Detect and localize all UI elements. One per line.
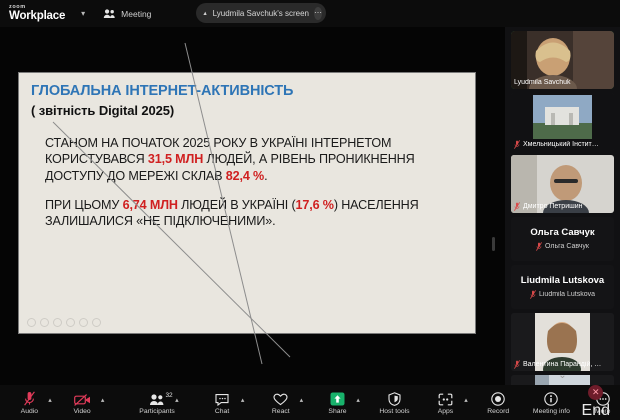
participant-name-bar: Liudmila Lutskova [530, 290, 595, 299]
participants-label: Participants [139, 408, 175, 415]
participant-display-name: Liudmila Lutskova [521, 275, 604, 286]
share-button[interactable]: Share ▴ [320, 391, 355, 415]
react-label: React [272, 408, 290, 415]
participant-name-bar: Lyudmila Savchuk [511, 76, 614, 89]
end-call-icon: ✕ [588, 385, 603, 400]
host-tools-label: Host tools [379, 408, 409, 415]
p2-text-b: ЛЮДЕЙ В УКРАЇНІ ( [178, 198, 296, 212]
brand-workplace-text: Workplace [9, 11, 65, 23]
record-label: Record [487, 408, 509, 415]
chevron-up-icon[interactable]: ▴ [300, 396, 304, 404]
host-tools-button[interactable]: Host tools [375, 391, 414, 415]
shared-screen-stage: ГЛОБАЛЬНА ІНТЕРНЕТ-АКТИВНІСТЬ ( звітніст… [0, 27, 505, 385]
end-meeting-button[interactable]: ✕ End [582, 385, 610, 420]
apps-label: Apps [438, 408, 454, 415]
p2-highlight-2: 17,6 % [296, 198, 334, 212]
pen-tool-icon[interactable] [53, 318, 62, 327]
record-icon [491, 391, 505, 406]
participant-tile[interactable]: Валентина Парандій, … [511, 313, 614, 371]
participant-name: Хмельницький Інстит… [523, 141, 599, 148]
meeting-info-label: Meeting info [533, 408, 570, 415]
participants-button[interactable]: 32 Participants ▴ [137, 391, 176, 415]
audio-button[interactable]: Audio ▴ [12, 391, 47, 415]
screen-share-label: Lyudmila Savchuk's screen [213, 9, 309, 18]
participants-icon [103, 8, 116, 19]
meeting-tab-label: Meeting [121, 9, 151, 19]
zoom-meeting-window: zoom Workplace ▾ Meeting Lyudmila Savchu… [0, 0, 620, 420]
next-slide-icon[interactable] [40, 318, 49, 327]
zoom-workplace-logo: zoom Workplace [9, 5, 65, 23]
participant-tile[interactable]: Lyudmila Savchuk [511, 31, 614, 89]
heart-icon [273, 391, 288, 406]
microphone-muted-icon [514, 140, 520, 149]
video-label: Video [73, 408, 90, 415]
participant-name: Дмитро Петришин [523, 203, 583, 210]
screen-share-indicator[interactable]: Lyudmila Savchuk's screen ⋯ [196, 3, 326, 23]
microphone-muted-icon [24, 391, 35, 406]
participant-tile[interactable]: Дмитро Петришин [511, 155, 614, 213]
end-label: End [582, 402, 610, 420]
participants-count-badge: 32 [165, 392, 172, 399]
screen-share-more-icon[interactable]: ⋯ [314, 7, 322, 20]
zoom-slide-icon[interactable] [79, 318, 88, 327]
prev-slide-icon[interactable] [27, 318, 36, 327]
participant-tile[interactable]: Liudmila Lutskova Liudmila Lutskova [511, 265, 614, 309]
chevron-up-icon[interactable]: ▴ [175, 396, 179, 404]
meeting-toolbar: Audio ▴ Video ▴ [0, 385, 620, 420]
microphone-muted-icon [536, 242, 542, 251]
apps-icon [438, 391, 453, 406]
camera-muted-icon [74, 391, 91, 406]
grid-view-icon[interactable] [66, 318, 75, 327]
microphone-muted-icon [514, 202, 520, 211]
participant-name-bar: Дмитро Петришин [511, 200, 614, 213]
filmstrip-scroll-down-icon[interactable]: ⌄ [505, 370, 620, 381]
participant-name: Валентина Парандій, … [523, 361, 601, 368]
microphone-muted-icon [514, 360, 520, 369]
p2-text-a: ПРИ ЦЬОМУ [45, 198, 123, 212]
chat-button[interactable]: Chat ▴ [205, 391, 240, 415]
chat-icon [215, 391, 229, 406]
slideshow-controls[interactable] [27, 318, 101, 327]
meeting-tab[interactable]: Meeting [103, 8, 151, 19]
slide-title: ГЛОБАЛЬНА ІНТЕРНЕТ-АКТИВНІСТЬ [31, 83, 463, 99]
slide-subtitle: ( звітність Digital 2025) [31, 103, 463, 118]
react-button[interactable]: React ▴ [263, 391, 298, 415]
participant-name: Lyudmila Savchuk [514, 79, 571, 86]
share-screen-icon [203, 8, 208, 19]
audio-label: Audio [21, 408, 38, 415]
participant-name: Ольга Савчук [545, 243, 589, 250]
record-button[interactable]: Record [481, 391, 516, 415]
slide-paragraph-1: СТАНОМ НА ПОЧАТОК 2025 РОКУ В УКРАЇНІ ІН… [45, 135, 463, 184]
microphone-muted-icon [530, 290, 536, 299]
share-screen-icon [330, 391, 345, 406]
chevron-up-icon[interactable]: ▴ [356, 396, 360, 404]
slide-paragraph-2: ПРИ ЦЬОМУ 6,74 МЛН ЛЮДЕЙ В УКРАЇНІ (17,6… [45, 197, 463, 230]
top-bar: zoom Workplace ▾ Meeting Lyudmila Savchu… [0, 0, 620, 27]
chevron-down-icon[interactable]: ▾ [81, 9, 85, 18]
p1-highlight-2: 82,4 % [226, 169, 264, 183]
chat-label: Chat [215, 408, 229, 415]
apps-button[interactable]: Apps ▴ [428, 391, 463, 415]
participant-tile[interactable]: Хмельницький Інстит… [511, 93, 614, 151]
participant-name: Liudmila Lutskova [539, 291, 595, 298]
p2-highlight-1: 6,74 МЛН [123, 198, 178, 212]
p1-text-c: . [264, 169, 267, 183]
chevron-up-icon[interactable]: ▴ [241, 396, 245, 404]
slide-menu-icon[interactable] [92, 318, 101, 327]
participant-tile[interactable]: Ольга Савчук Ольга Савчук [511, 217, 614, 261]
participant-name-bar: Хмельницький Інстит… [511, 138, 614, 151]
info-icon [544, 391, 558, 406]
slide-body: СТАНОМ НА ПОЧАТОК 2025 РОКУ В УКРАЇНІ ІН… [31, 135, 463, 230]
meeting-info-button[interactable]: Meeting info [530, 391, 574, 415]
presentation-slide: ГЛОБАЛЬНА ІНТЕРНЕТ-АКТИВНІСТЬ ( звітніст… [18, 72, 476, 334]
participant-display-name: Ольга Савчук [530, 227, 594, 238]
chevron-up-icon[interactable]: ▴ [48, 396, 52, 404]
chevron-up-icon[interactable]: ▴ [101, 396, 105, 404]
shield-icon [388, 391, 401, 406]
share-label: Share [328, 408, 346, 415]
participants-filmstrip[interactable]: Lyudmila Savchuk Хмельницький Інстит… [505, 27, 620, 385]
video-button[interactable]: Video ▴ [65, 391, 100, 415]
participant-name-bar: Ольга Савчук [536, 242, 589, 251]
panel-resize-handle[interactable] [492, 237, 495, 251]
participants-icon [149, 391, 165, 406]
chevron-up-icon[interactable]: ▴ [464, 396, 468, 404]
p1-highlight-1: 31,5 МЛН [148, 152, 203, 166]
